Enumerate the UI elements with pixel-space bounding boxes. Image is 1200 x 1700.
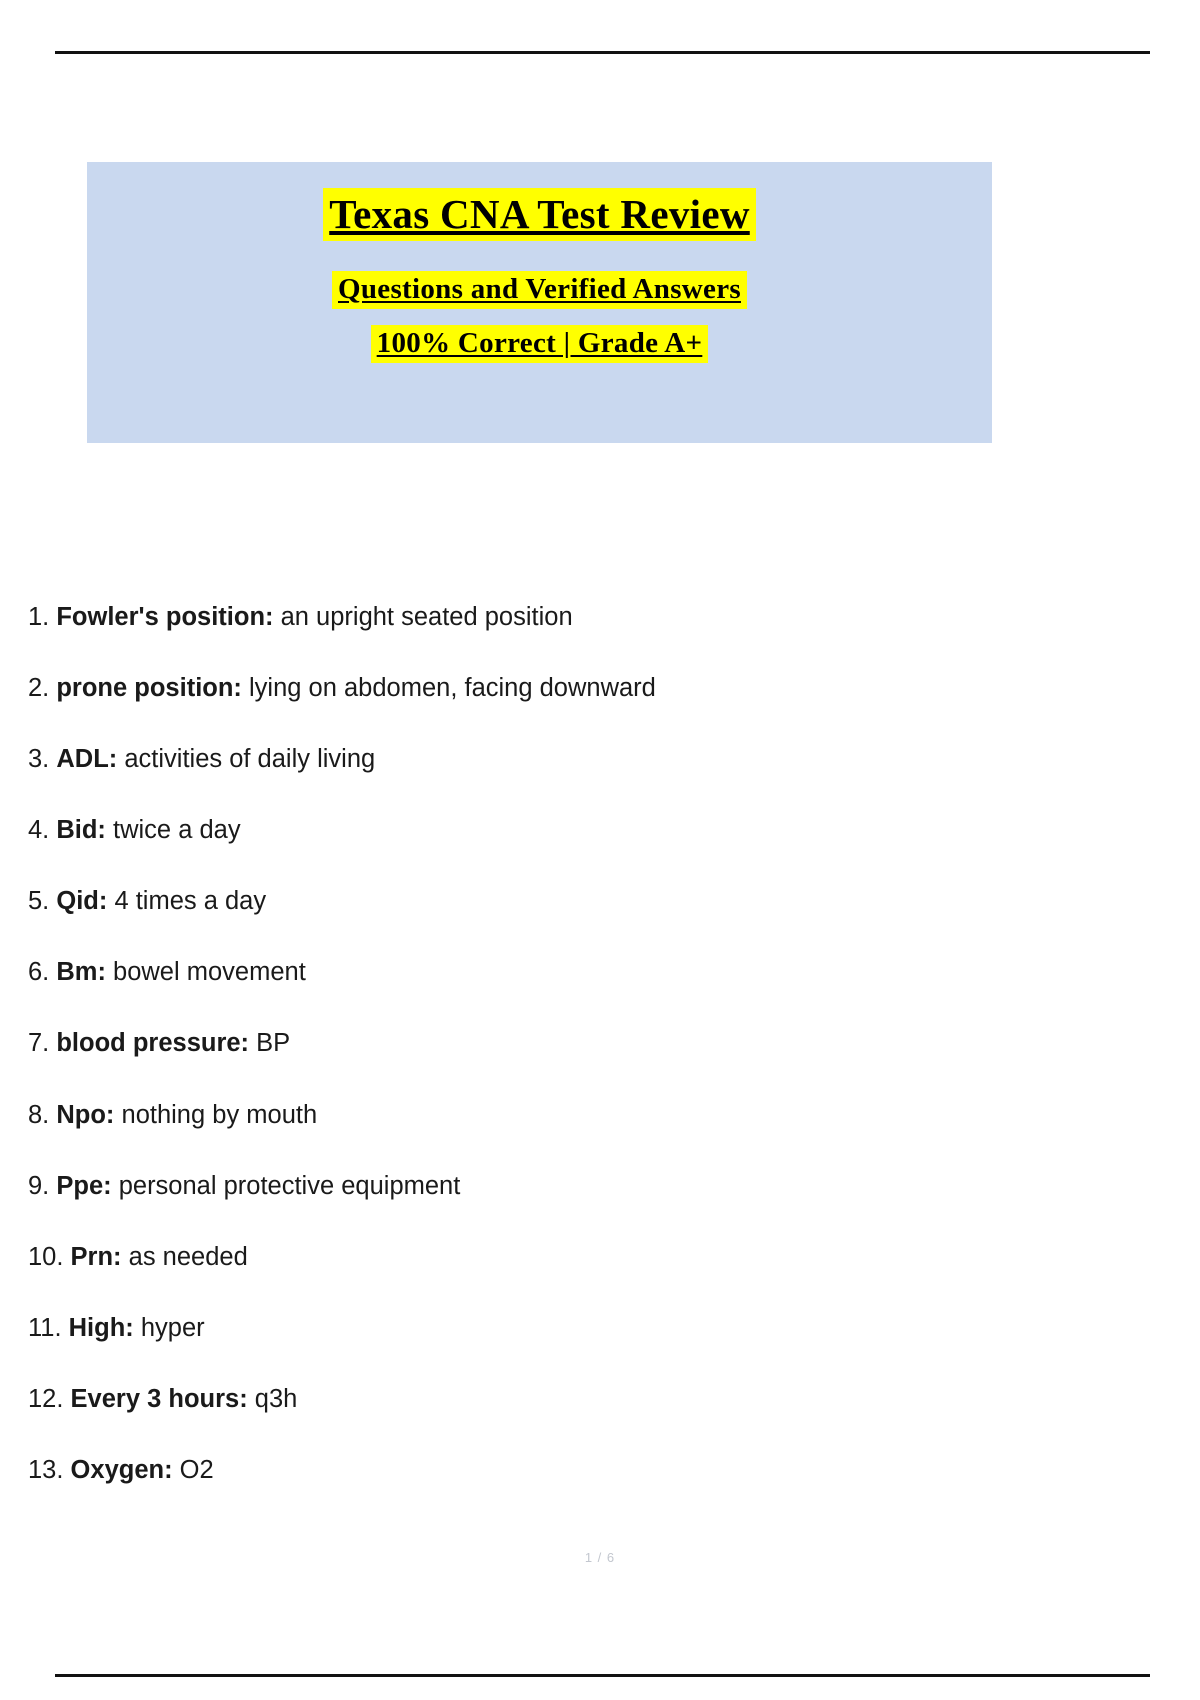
page-indicator: 1 / 6 bbox=[0, 1550, 1200, 1565]
qa-item-term: prone position: bbox=[56, 674, 249, 702]
qa-item-term: ADL: bbox=[56, 745, 124, 773]
qa-item-definition: as needed bbox=[129, 1243, 248, 1271]
qa-item-number: 12. bbox=[28, 1385, 71, 1413]
qa-item: 3. ADL: activities of daily living bbox=[28, 744, 1148, 774]
qa-item: 1. Fowler's position: an upright seated … bbox=[28, 602, 1148, 632]
qa-item-number: 6. bbox=[28, 958, 56, 986]
qa-item-definition: activities of daily living bbox=[124, 745, 375, 773]
title-banner: Texas CNA Test Review Questions and Veri… bbox=[87, 162, 992, 443]
qa-item: 2. prone position: lying on abdomen, fac… bbox=[28, 673, 1148, 703]
qa-item-term: Ppe: bbox=[56, 1172, 118, 1200]
qa-item-definition: O2 bbox=[180, 1456, 214, 1484]
qa-item-term: blood pressure: bbox=[56, 1029, 256, 1057]
qa-item-term: Oxygen: bbox=[71, 1456, 180, 1484]
qa-item: 12. Every 3 hours: q3h bbox=[28, 1384, 1148, 1414]
qa-item-definition: twice a day bbox=[113, 816, 241, 844]
document-title-text: Texas CNA Test Review bbox=[323, 188, 756, 241]
qa-item-definition: personal protective equipment bbox=[119, 1172, 461, 1200]
qa-item-number: 7. bbox=[28, 1029, 56, 1057]
qa-item: 9. Ppe: personal protective equipment bbox=[28, 1171, 1148, 1201]
qa-item: 13. Oxygen: O2 bbox=[28, 1455, 1148, 1485]
qa-item: 11. High: hyper bbox=[28, 1313, 1148, 1343]
qa-item-term: Qid: bbox=[56, 887, 114, 915]
qa-item-term: Every 3 hours: bbox=[71, 1385, 255, 1413]
qa-item-term: Bm: bbox=[56, 958, 113, 986]
qa-item-number: 9. bbox=[28, 1172, 56, 1200]
qa-item-definition: q3h bbox=[255, 1385, 298, 1413]
qa-item: 4. Bid: twice a day bbox=[28, 815, 1148, 845]
document-subtitle-2-text: 100% Correct | Grade A+ bbox=[371, 325, 709, 363]
document-title: Texas CNA Test Review bbox=[87, 188, 992, 241]
qa-item: 5. Qid: 4 times a day bbox=[28, 886, 1148, 916]
qa-list: 1. Fowler's position: an upright seated … bbox=[28, 602, 1148, 1526]
qa-item-number: 5. bbox=[28, 887, 56, 915]
document-subtitle-1-text: Questions and Verified Answers bbox=[332, 271, 747, 309]
qa-item-term: Npo: bbox=[56, 1101, 121, 1129]
qa-item-number: 4. bbox=[28, 816, 56, 844]
qa-item-definition: nothing by mouth bbox=[122, 1101, 318, 1129]
qa-item-definition: lying on abdomen, facing downward bbox=[249, 674, 656, 702]
page-top-rule bbox=[55, 51, 1150, 54]
qa-item-number: 13. bbox=[28, 1456, 71, 1484]
qa-item-number: 2. bbox=[28, 674, 56, 702]
qa-item-number: 11. bbox=[28, 1314, 69, 1342]
qa-item-number: 8. bbox=[28, 1101, 56, 1129]
qa-item-term: Bid: bbox=[56, 816, 113, 844]
document-subtitle-1: Questions and Verified Answers bbox=[87, 271, 992, 309]
qa-item: 8. Npo: nothing by mouth bbox=[28, 1100, 1148, 1130]
qa-item-definition: 4 times a day bbox=[114, 887, 266, 915]
qa-item-definition: hyper bbox=[141, 1314, 205, 1342]
qa-item: 7. blood pressure: BP bbox=[28, 1028, 1148, 1058]
qa-item-number: 1. bbox=[28, 603, 56, 631]
qa-item-definition: BP bbox=[256, 1029, 290, 1057]
qa-item-definition: bowel movement bbox=[113, 958, 306, 986]
qa-item-number: 3. bbox=[28, 745, 56, 773]
qa-item: 10. Prn: as needed bbox=[28, 1242, 1148, 1272]
qa-item-term: High: bbox=[69, 1314, 141, 1342]
qa-item: 6. Bm: bowel movement bbox=[28, 957, 1148, 987]
page-bottom-rule bbox=[55, 1674, 1150, 1677]
qa-item-number: 10. bbox=[28, 1243, 71, 1271]
document-subtitle-2: 100% Correct | Grade A+ bbox=[87, 325, 992, 363]
qa-item-definition: an upright seated position bbox=[281, 603, 573, 631]
qa-item-term: Prn: bbox=[71, 1243, 129, 1271]
qa-item-term: Fowler's position: bbox=[56, 603, 280, 631]
